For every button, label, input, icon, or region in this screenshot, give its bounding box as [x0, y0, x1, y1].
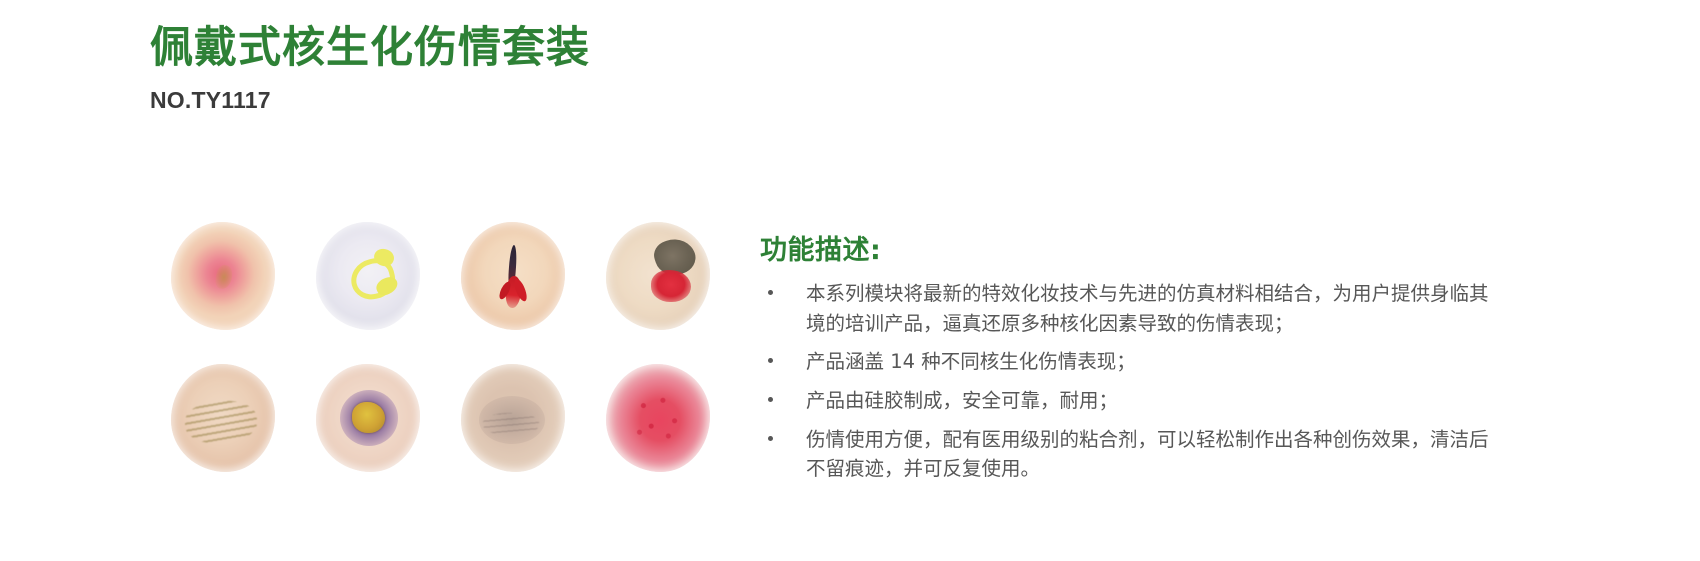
description-panel: 功能描述: 本系列模块将最新的特效化妆技术与先进的仿真材料相结合，为用户提供身临…: [760, 228, 1500, 493]
bullet-dot-icon: [768, 358, 773, 363]
wound-module-image-6: [316, 364, 420, 472]
burn-granulation-icon: [620, 379, 698, 455]
list-item-text: 伤情使用方便，配有医用级别的粘合剂，可以轻松制作出各种创伤效果，清洁后不留痕迹，…: [806, 428, 1489, 481]
yellow-lesion-ring-icon: [347, 254, 399, 303]
contusion-discoloration-module: [440, 347, 585, 489]
laceration-bleeding-module: [440, 205, 585, 347]
blood-drip-primary-icon: [505, 275, 523, 308]
product-code: NO.TY1117: [150, 87, 1050, 114]
bullet-dot-icon: [768, 397, 773, 402]
yellow-blister-core-icon: [352, 402, 385, 433]
bullet-dot-icon: [768, 290, 773, 295]
radiation-erythema-module: [150, 205, 295, 347]
list-item: 产品由硅胶制成，安全可靠，耐用；: [760, 386, 1500, 416]
wound-module-image-4: [606, 222, 710, 330]
abrasion-scratches-icon: [184, 398, 259, 445]
list-item: 本系列模块将最新的特效化妆技术与先进的仿真材料相结合，为用户提供身临其境的培训产…: [760, 279, 1500, 338]
raw-tissue-icon: [651, 270, 691, 302]
yellow-lesion-lower-icon: [373, 274, 400, 298]
product-image-gallery: [150, 205, 730, 490]
bullet-dot-icon: [768, 436, 773, 441]
wound-module-image-7: [461, 364, 565, 472]
laceration-cut-icon: [508, 244, 518, 288]
contusion-haze-icon: [479, 396, 545, 444]
header: 佩戴式核生化伤情套装 NO.TY1117: [150, 24, 1050, 114]
contusion-lines-icon: [483, 413, 539, 435]
list-item-text: 本系列模块将最新的特效化妆技术与先进的仿真材料相结合，为用户提供身临其境的培训产…: [806, 282, 1489, 335]
description-heading: 功能描述:: [760, 228, 1500, 267]
erythema-center-icon: [215, 264, 234, 290]
list-item: 产品涵盖 14 种不同核生化伤情表现；: [760, 347, 1500, 377]
wound-module-image-2: [316, 222, 420, 330]
wound-module-image-3: [461, 222, 565, 330]
yellow-lesion-upper-icon: [371, 246, 396, 269]
blood-drip-left-icon: [497, 281, 513, 302]
blood-drip-right-icon: [511, 277, 528, 303]
blister-yellow-lesion-module: [295, 205, 440, 347]
wound-module-image-5: [171, 364, 275, 472]
list-item: 伤情使用方便，配有医用级别的粘合剂，可以轻松制作出各种创伤效果，清洁后不留痕迹，…: [760, 425, 1500, 484]
raw-burn-module: [585, 347, 730, 489]
bruise-blister-module: [295, 347, 440, 489]
abrasion-striation-module: [150, 347, 295, 489]
wound-module-image-1: [171, 222, 275, 330]
description-bullet-list: 本系列模块将最新的特效化妆技术与先进的仿真材料相结合，为用户提供身临其境的培训产…: [760, 279, 1500, 484]
list-item-text: 产品由硅胶制成，安全可靠，耐用；: [806, 389, 1118, 412]
list-item-text: 产品涵盖 14 种不同核生化伤情表现；: [806, 350, 1136, 373]
product-sheet-page: 佩戴式核生化伤情套装 NO.TY1117: [0, 0, 1700, 561]
page-title: 佩戴式核生化伤情套装: [150, 24, 1050, 73]
wound-module-image-8: [606, 364, 710, 472]
eschar-crust-icon: [651, 234, 700, 281]
necrotic-eschar-module: [585, 205, 730, 347]
purple-bruise-icon: [340, 390, 398, 446]
